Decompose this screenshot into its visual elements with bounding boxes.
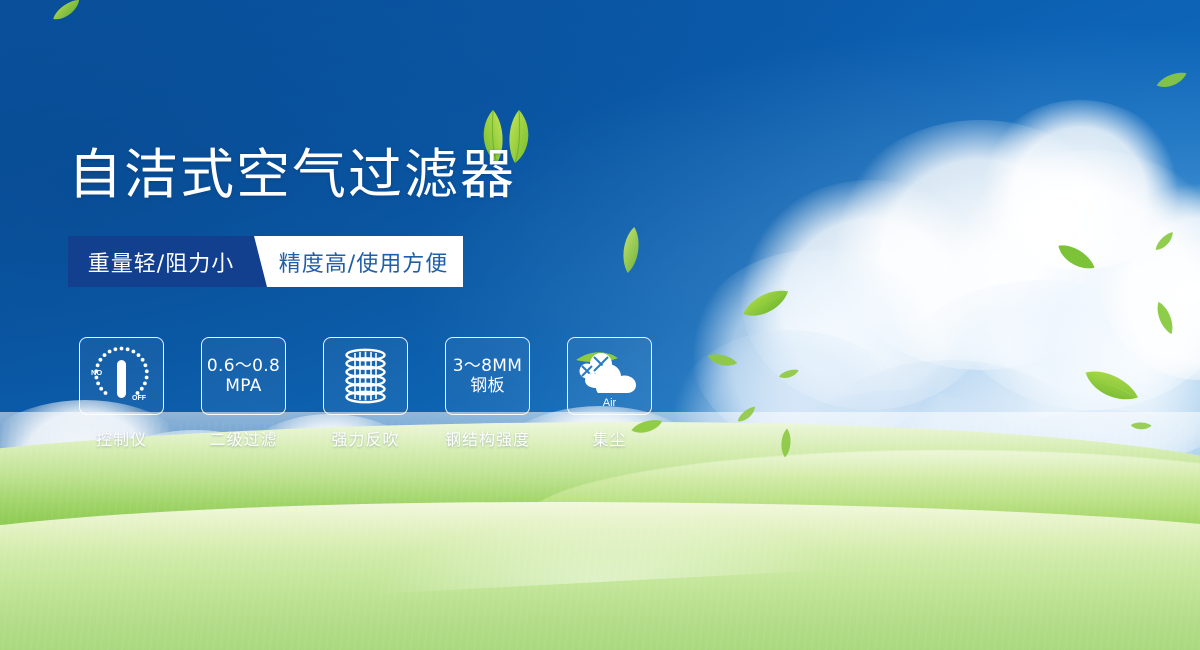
feature-label: 钢结构强度 [445, 426, 530, 450]
feature-item-backblow[interactable]: 强力反吹 [324, 337, 407, 450]
feature-list: NO OFF 控制仪 0.6～0.8 MPA 二级过滤 [80, 337, 651, 450]
svg-text:NO: NO [91, 368, 102, 377]
feature-label: 强力反吹 [331, 426, 399, 450]
feature-label: 二级过滤 [209, 426, 277, 450]
cloud-air-label: Air [603, 397, 617, 409]
feature-item-pressure[interactable]: 0.6～0.8 MPA 二级过滤 [202, 337, 285, 450]
page-title: 自洁式空气过滤器 [68, 146, 516, 203]
banner-stage: 自洁式空气过滤器 重量轻/阻力小 精度高/使用方便 [0, 0, 1200, 650]
banner-content: 自洁式空气过滤器 重量轻/阻力小 精度高/使用方便 [0, 0, 1200, 650]
feature-item-steel[interactable]: 3～8MM 钢板 钢结构强度 [446, 337, 529, 450]
cloud-air-icon: Air [567, 337, 652, 415]
feature-label: 控制仪 [96, 426, 147, 450]
steel-plate-icon: 3～8MM 钢板 [445, 337, 530, 415]
filter-coil-icon [323, 337, 408, 415]
tagline-bar: 重量轻/阻力小 精度高/使用方便 [68, 236, 463, 287]
gauge-icon: NO OFF [79, 337, 164, 415]
svg-text:OFF: OFF [132, 395, 147, 402]
feature-item-dust[interactable]: Air 集尘 [568, 337, 651, 450]
steel-material: 钢板 [453, 376, 522, 396]
tagline-right: 精度高/使用方便 [254, 236, 463, 287]
pressure-value: 0.6～0.8 [207, 356, 280, 376]
tagline-left: 重量轻/阻力小 [68, 236, 254, 287]
steel-thickness: 3～8MM [453, 356, 522, 376]
feature-item-controller[interactable]: NO OFF 控制仪 [80, 337, 163, 450]
feature-label: 集尘 [592, 426, 626, 450]
pressure-unit: MPA [207, 376, 280, 396]
pressure-icon: 0.6～0.8 MPA [201, 337, 286, 415]
